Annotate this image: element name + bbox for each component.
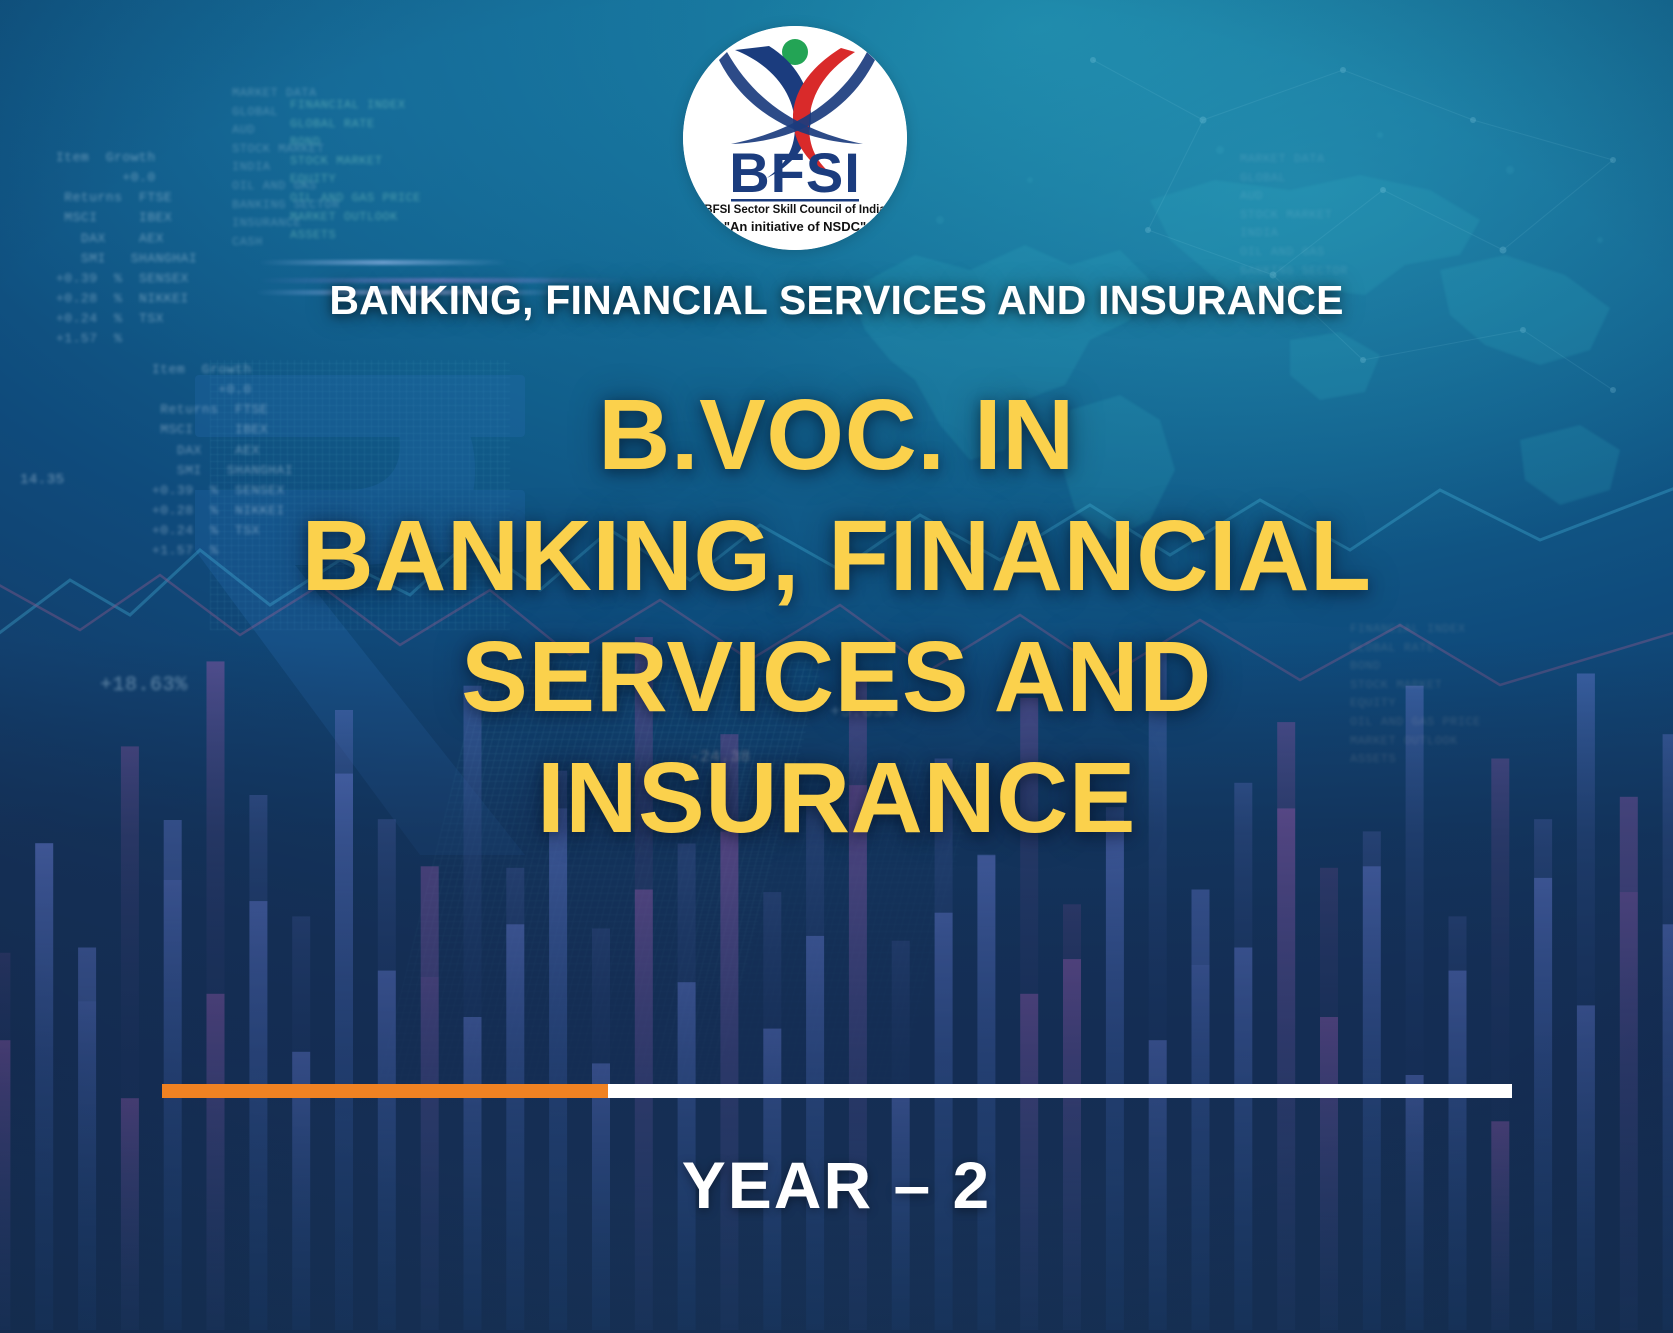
poster-title-line-2: BANKING, FINANCIAL: [120, 496, 1553, 617]
background-percent-4: 14.35: [20, 470, 65, 492]
background-ticker-right: FINANCIAL INDEX GLOBAL RATE BOND STOCK M…: [290, 96, 421, 245]
logo-subtitle-1: BFSI Sector Skill Council of India: [704, 204, 886, 216]
background-streak-2: [258, 260, 508, 265]
bfsi-logo-graphic: BFSI BFSI Sector Skill Council of India …: [683, 26, 907, 250]
logo-subtitle-2: "An initiative of NSDC": [724, 219, 866, 234]
poster-title-line-1: B.VOC. IN: [120, 375, 1553, 496]
poster-kicker: BANKING, FINANCIAL SERVICES AND INSURANC…: [0, 277, 1673, 324]
poster-title-line-4: INSURANCE: [120, 738, 1553, 859]
poster-title: B.VOC. IN BANKING, FINANCIAL SERVICES AN…: [120, 375, 1553, 859]
divider-segment-white: [608, 1084, 1513, 1098]
logo-wordmark: BFSI: [729, 141, 861, 204]
divider-segment-orange: [162, 1084, 608, 1098]
divider-bar: [162, 1084, 1512, 1098]
poster-year-label: YEAR – 2: [0, 1147, 1673, 1223]
poster-canvas: Item Growth +0.0 Returns FTSE MSCI IBEX …: [0, 0, 1673, 1333]
poster-title-line-3: SERVICES AND: [120, 617, 1553, 738]
bfsi-logo: BFSI BFSI Sector Skill Council of India …: [683, 26, 907, 250]
